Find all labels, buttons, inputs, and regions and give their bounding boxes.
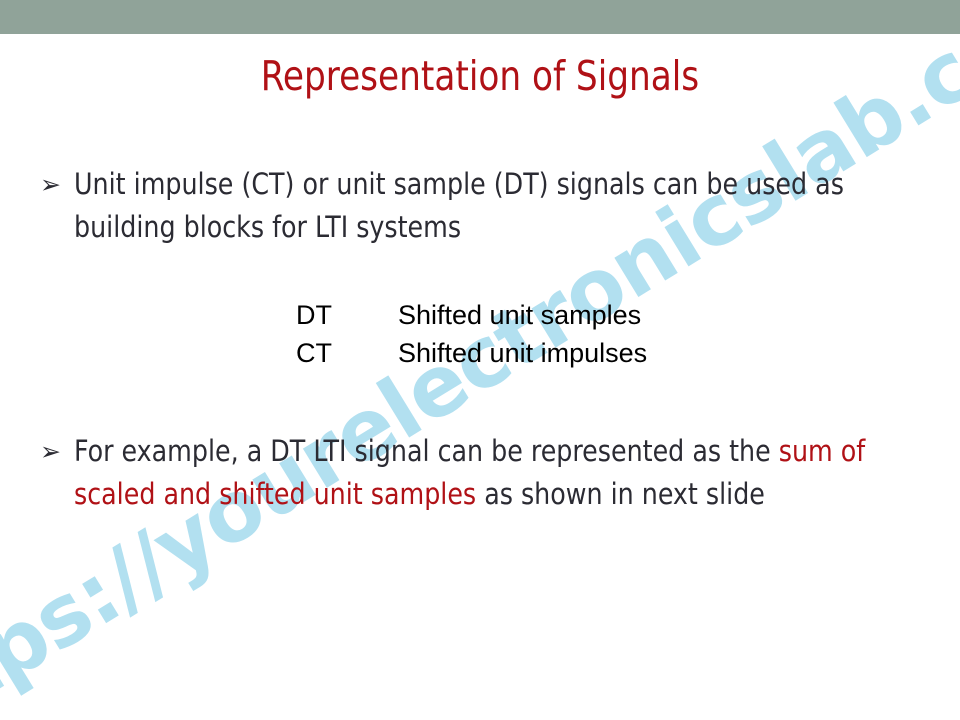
bullet-item-2: ➢ For example, a DT LTI signal can be re… — [40, 430, 940, 516]
table-row: DT Shifted unit samples — [296, 296, 647, 334]
arrow-bullet-icon: ➢ — [40, 430, 74, 473]
table-row: CT Shifted unit impulses — [296, 334, 647, 372]
definitions-table: DT Shifted unit samples CT Shifted unit … — [296, 296, 647, 372]
definition-description: Shifted unit samples — [398, 296, 647, 334]
bullet-item-1-text: Unit impulse (CT) or unit sample (DT) si… — [74, 163, 901, 249]
definition-abbr: DT — [296, 296, 398, 334]
bullet-segment: For example, a DT LTI signal can be repr… — [74, 434, 779, 468]
bullet-segment: as shown in next slide — [476, 477, 765, 511]
slide-content: Representation of Signals ➢ Unit impulse… — [0, 0, 960, 720]
arrow-bullet-icon: ➢ — [40, 163, 74, 206]
definition-description: Shifted unit impulses — [398, 334, 647, 372]
bullet-segment: Unit impulse (CT) or unit sample (DT) si… — [74, 167, 844, 244]
presentation-slide: https://yourelectronicslab.com Represent… — [0, 0, 960, 720]
bullet-item-2-text: For example, a DT LTI signal can be repr… — [74, 430, 901, 516]
definition-abbr: CT — [296, 334, 398, 372]
page-title: Representation of Signals — [34, 52, 927, 100]
bullet-item-1: ➢ Unit impulse (CT) or unit sample (DT) … — [40, 163, 940, 249]
